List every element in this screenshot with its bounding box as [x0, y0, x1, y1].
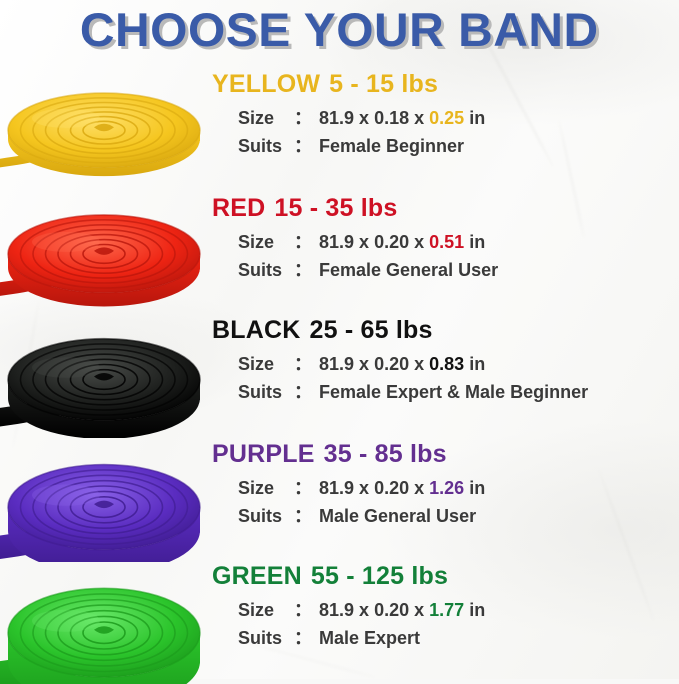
coiled-band-icon	[0, 196, 212, 316]
size-label: Size	[238, 476, 294, 502]
suits-colon: ：	[294, 260, 312, 280]
band-suits-line: Suits：Female Expert & Male Beginner	[238, 380, 679, 406]
size-unit: in	[469, 600, 485, 620]
size-colon: ：	[294, 108, 312, 128]
suits-value: Female Beginner	[319, 136, 464, 156]
coiled-band-icon	[0, 72, 212, 192]
band-resistance-range: 5 - 15 lbs	[329, 70, 438, 98]
band-size-line: Size：81.9 x 0.20 x 1.77 in	[238, 598, 679, 624]
band-color-name: PURPLE	[212, 440, 315, 468]
size-dim-3: 1.26	[429, 478, 464, 498]
band-info: PURPLE35 - 85 lbsSize：81.9 x 0.20 x 1.26…	[212, 442, 679, 529]
size-unit: in	[469, 108, 485, 128]
size-dim-3: 0.51	[429, 232, 464, 252]
size-dim-3: 0.25	[429, 108, 464, 128]
suits-label: Suits	[238, 380, 294, 406]
suits-label: Suits	[238, 258, 294, 284]
suits-colon: ：	[294, 136, 312, 156]
band-name-heading: GREEN55 - 125 lbs	[212, 564, 679, 589]
size-dim-2: 0.20	[374, 478, 409, 498]
size-dim-1: 81.9	[319, 354, 354, 374]
suits-label: Suits	[238, 134, 294, 160]
suits-value: Female General User	[319, 260, 498, 280]
size-colon: ：	[294, 354, 312, 374]
size-label: Size	[238, 230, 294, 256]
band-color-name: GREEN	[212, 562, 302, 590]
band-name-heading: RED15 - 35 lbs	[212, 196, 679, 221]
suits-colon: ：	[294, 506, 312, 526]
band-row-green: GREEN55 - 125 lbsSize：81.9 x 0.20 x 1.77…	[0, 564, 679, 684]
size-unit: in	[469, 232, 485, 252]
size-dim-1: 81.9	[319, 232, 354, 252]
page-title: CHOOSE YOUR BAND	[80, 6, 599, 53]
band-info: BLACK25 - 65 lbsSize：81.9 x 0.20 x 0.83 …	[212, 318, 679, 405]
suits-label: Suits	[238, 504, 294, 530]
size-colon: ：	[294, 600, 312, 620]
size-dim-1: 81.9	[319, 600, 354, 620]
band-resistance-range: 25 - 65 lbs	[310, 316, 433, 344]
band-suits-line: Suits：Female Beginner	[238, 134, 679, 160]
band-color-name: RED	[212, 194, 265, 222]
size-dim-1: 81.9	[319, 108, 354, 128]
band-name-heading: YELLOW5 - 15 lbs	[212, 72, 679, 97]
size-dim-2: 0.20	[374, 232, 409, 252]
size-label: Size	[238, 352, 294, 378]
band-color-name: YELLOW	[212, 70, 320, 98]
band-name-heading: BLACK25 - 65 lbs	[212, 318, 679, 343]
size-dim-1: 81.9	[319, 478, 354, 498]
size-unit: in	[469, 478, 485, 498]
size-dim-3: 0.83	[429, 354, 464, 374]
suits-value: Male Expert	[319, 628, 420, 648]
band-info: GREEN55 - 125 lbsSize：81.9 x 0.20 x 1.77…	[212, 564, 679, 651]
size-label: Size	[238, 598, 294, 624]
band-size-line: Size：81.9 x 0.18 x 0.25 in	[238, 106, 679, 132]
size-dim-2: 0.20	[374, 354, 409, 374]
size-unit: in	[469, 354, 485, 374]
band-info: RED15 - 35 lbsSize：81.9 x 0.20 x 0.51 in…	[212, 196, 679, 283]
band-suits-line: Suits：Male General User	[238, 504, 679, 530]
suits-colon: ：	[294, 382, 312, 402]
suits-value: Female Expert & Male Beginner	[319, 382, 588, 402]
band-size-line: Size：81.9 x 0.20 x 1.26 in	[238, 476, 679, 502]
size-dim-2: 0.18	[374, 108, 409, 128]
coiled-band-icon	[0, 564, 212, 684]
band-suits-line: Suits：Female General User	[238, 258, 679, 284]
band-suits-line: Suits：Male Expert	[238, 626, 679, 652]
size-colon: ：	[294, 478, 312, 498]
band-size-line: Size：81.9 x 0.20 x 0.83 in	[238, 352, 679, 378]
band-row-black: BLACK25 - 65 lbsSize：81.9 x 0.20 x 0.83 …	[0, 318, 679, 438]
poster-canvas: CHOOSE YOUR BAND	[0, 0, 679, 679]
suits-label: Suits	[238, 626, 294, 652]
size-label: Size	[238, 106, 294, 132]
suits-value: Male General User	[319, 506, 476, 526]
coiled-band-icon	[0, 442, 212, 562]
band-color-name: BLACK	[212, 316, 301, 344]
page-title-container: CHOOSE YOUR BAND	[0, 6, 679, 53]
band-resistance-range: 55 - 125 lbs	[311, 562, 448, 590]
suits-colon: ：	[294, 628, 312, 648]
size-dim-3: 1.77	[429, 600, 464, 620]
band-resistance-range: 35 - 85 lbs	[324, 440, 447, 468]
band-info: YELLOW5 - 15 lbsSize：81.9 x 0.18 x 0.25 …	[212, 72, 679, 159]
band-resistance-range: 15 - 35 lbs	[274, 194, 397, 222]
band-row-purple: PURPLE35 - 85 lbsSize：81.9 x 0.20 x 1.26…	[0, 442, 679, 562]
band-size-line: Size：81.9 x 0.20 x 0.51 in	[238, 230, 679, 256]
coiled-band-icon	[0, 318, 212, 438]
band-row-yellow: YELLOW5 - 15 lbsSize：81.9 x 0.18 x 0.25 …	[0, 72, 679, 192]
band-row-red: RED15 - 35 lbsSize：81.9 x 0.20 x 0.51 in…	[0, 196, 679, 316]
size-dim-2: 0.20	[374, 600, 409, 620]
size-colon: ：	[294, 232, 312, 252]
band-name-heading: PURPLE35 - 85 lbs	[212, 442, 679, 467]
